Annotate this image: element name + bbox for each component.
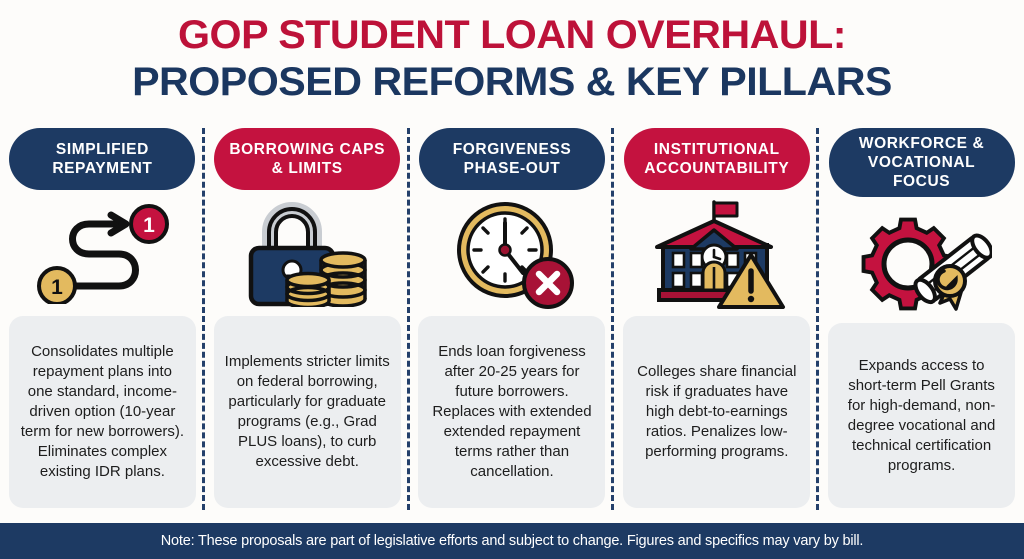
pillar-pill-simplified-repayment[interactable]: SIMPLIFIED REPAYMENT (9, 128, 195, 190)
footer-note-text: Note: These proposals are part of legisl… (161, 533, 863, 549)
gear-diploma-icon (829, 203, 1015, 319)
pillar-card-forgiveness-phaseout: Ends loan forgiveness after 20-25 years … (418, 316, 605, 508)
title-line-secondary: PROPOSED REFORMS & KEY PILLARS (0, 58, 1024, 106)
infographic-root: GOP STUDENT LOAN OVERHAUL: PROPOSED REFO… (0, 0, 1024, 559)
school-warning-icon (624, 196, 810, 312)
pillar-column-simplified-repayment: SIMPLIFIED REPAYMENT 1 1 Consolidates mu… (0, 126, 205, 516)
pillar-card-simplified-repayment: Consolidates multiple repayment plans in… (9, 316, 196, 508)
pillar-column-workforce-vocational: WORKFORCE & VOCATIONAL FOCUS (819, 126, 1024, 516)
pillar-column-institutional-accountability: INSTITUTIONAL ACCOUNTABILITY (614, 126, 819, 516)
pillar-pill-forgiveness-phaseout[interactable]: FORGIVENESS PHASE-OUT (419, 128, 605, 190)
pillar-card-institutional-accountability: Colleges share financial risk if graduat… (623, 316, 810, 508)
pillar-body-text: Ends loan forgiveness after 20-25 years … (428, 342, 595, 482)
svg-text:1: 1 (52, 276, 64, 299)
pillar-body-text: Consolidates multiple repayment plans in… (19, 342, 186, 482)
pillar-column-borrowing-caps: BORROWING CAPS & LIMITS (205, 126, 410, 516)
clock-cancel-icon (419, 196, 605, 312)
pillar-column-forgiveness-phaseout: FORGIVENESS PHASE-OUT (410, 126, 615, 516)
title-line-primary: GOP STUDENT LOAN OVERHAUL: (0, 12, 1024, 58)
pillar-pill-institutional-accountability[interactable]: INSTITUTIONAL ACCOUNTABILITY (624, 128, 810, 190)
repayment-path-icon: 1 1 (9, 196, 195, 312)
pillar-card-borrowing-caps: Implements stricter limits on federal bo… (214, 316, 401, 508)
pillar-body-text: Colleges share financial risk if graduat… (633, 362, 800, 462)
pillar-card-workforce-vocational: Expands access to short-term Pell Grants… (828, 323, 1015, 508)
pillar-pill-borrowing-caps[interactable]: BORROWING CAPS & LIMITS (214, 128, 400, 190)
pillar-pill-workforce-vocational[interactable]: WORKFORCE & VOCATIONAL FOCUS (829, 128, 1015, 197)
page-title: GOP STUDENT LOAN OVERHAUL: PROPOSED REFO… (0, 12, 1024, 106)
footer-note-bar: Note: These proposals are part of legisl… (0, 523, 1024, 559)
pillar-body-text: Implements stricter limits on federal bo… (224, 352, 391, 472)
pillar-columns: SIMPLIFIED REPAYMENT 1 1 Consolidates mu… (0, 126, 1024, 516)
pillar-body-text: Expands access to short-term Pell Grants… (838, 356, 1005, 476)
svg-text:1: 1 (144, 214, 156, 237)
padlock-coins-icon (214, 196, 400, 312)
